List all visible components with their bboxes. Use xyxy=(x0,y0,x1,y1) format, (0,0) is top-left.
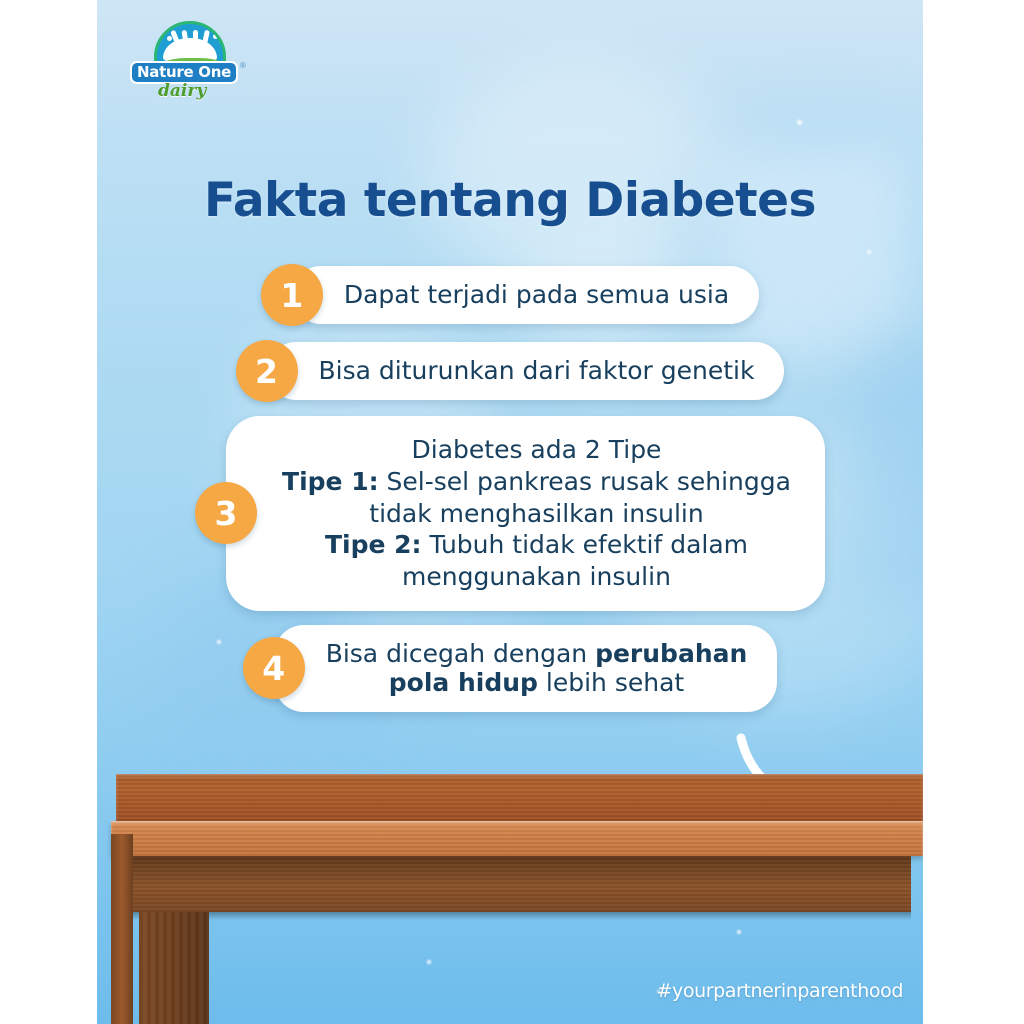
logo-milk-drop-icon xyxy=(167,36,172,41)
page-title: Fakta tentang Diabetes xyxy=(97,173,923,228)
fact-text-card: Dapat terjadi pada semua usia xyxy=(292,266,759,324)
registered-mark: ® xyxy=(240,61,246,70)
poster-canvas: Nature One ® dairy Fakta tentang Diabete… xyxy=(97,0,923,1024)
fact-number-badge: 1 xyxy=(261,264,323,326)
fact-item-2: 2 Bisa diturunkan dari faktor genetik xyxy=(97,340,923,402)
table-shadow xyxy=(127,912,911,920)
fact-item-4: 4 Bisa dicegah dengan perubahanpola hidu… xyxy=(97,625,923,712)
table-leg-inner xyxy=(139,912,209,1024)
logo-subwordmark: dairy xyxy=(158,81,206,101)
footer-hashtag: #yourpartnerinparenthood xyxy=(656,980,903,1002)
fact-number-badge: 2 xyxy=(236,340,298,402)
fact-text-card: Diabetes ada 2 TipeTipe 1: Sel-sel pankr… xyxy=(226,416,825,611)
fact-number-badge: 4 xyxy=(243,637,305,699)
table-top-surface xyxy=(116,774,923,821)
sparkle-dot xyxy=(867,250,871,254)
fact-item-1: 1 Dapat terjadi pada semua usia xyxy=(97,264,923,326)
facts-list: 1 Dapat terjadi pada semua usia 2 Bisa d… xyxy=(97,264,923,726)
logo-milk-drop-icon xyxy=(213,34,218,39)
fact-number-badge: 3 xyxy=(195,482,257,544)
brand-logo[interactable]: Nature One ® dairy xyxy=(130,21,250,101)
table-apron xyxy=(127,856,911,912)
fact-text-card: Bisa diturunkan dari faktor genetik xyxy=(267,342,785,400)
table-leg-left xyxy=(111,834,133,1024)
sparkle-dot xyxy=(797,120,802,125)
fact-text-card: Bisa dicegah dengan perubahanpola hidup … xyxy=(274,625,778,712)
fact-item-3: 3 Diabetes ada 2 TipeTipe 1: Sel-sel pan… xyxy=(97,416,923,611)
table-front-edge xyxy=(111,821,923,856)
